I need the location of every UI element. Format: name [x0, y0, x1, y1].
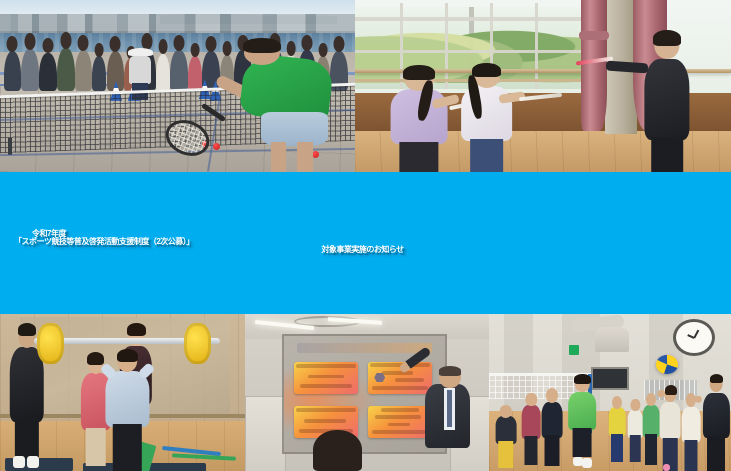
ventilation-duct [595, 327, 629, 352]
presenter-in-suit [423, 367, 477, 471]
pink-curtain-left [581, 0, 607, 131]
tennis-clinic-photo [0, 0, 355, 172]
weightlifting-photo [0, 314, 245, 471]
child-white-top [457, 62, 517, 172]
weight-plate-right [184, 323, 211, 364]
curtain-tieback [579, 31, 609, 40]
exit-sign [569, 345, 579, 354]
photo-row-bottom [0, 314, 731, 471]
slide-text-box [294, 362, 358, 395]
child-player [540, 388, 564, 467]
child-reaching-for-ball [680, 389, 702, 471]
banner-line-3: 対象事業実施のお知らせ [0, 246, 731, 254]
tennis-coach [234, 38, 355, 172]
tennis-racket [162, 108, 230, 154]
child-player [494, 405, 518, 468]
child-reaching-for-ball [658, 383, 682, 471]
slide-title-bar [297, 343, 432, 353]
coach-green-shirt [566, 374, 597, 468]
photo-collage-banner: 令和7年度 「スポーツ競技等普及啓発活動支援制度（2次公募）」 対象事業実施のお… [0, 0, 731, 471]
child-player [608, 396, 627, 462]
baton-lesson-photo [355, 0, 731, 172]
necktie [447, 390, 451, 427]
net-post [8, 138, 12, 155]
audience-head [313, 430, 362, 471]
white-cap [128, 48, 153, 56]
wall-clock [673, 319, 715, 356]
announcement-banner: 令和7年度 「スポーツ競技等普及啓発活動支援制度（2次公募）」 対象事業実施のお… [0, 172, 731, 314]
baton-instructor [641, 28, 694, 172]
volleyball [656, 355, 678, 374]
volleyball-photo [489, 314, 731, 471]
weight-plate-left [37, 323, 64, 364]
photo-row-top [0, 0, 731, 172]
cabinet-left [245, 396, 286, 471]
lecture-seminar-photo [245, 314, 489, 471]
child-lifting-barbell [103, 349, 152, 471]
child-lavender-top [385, 65, 453, 172]
adult-coach-right [702, 374, 731, 471]
city-skyline [0, 14, 355, 35]
